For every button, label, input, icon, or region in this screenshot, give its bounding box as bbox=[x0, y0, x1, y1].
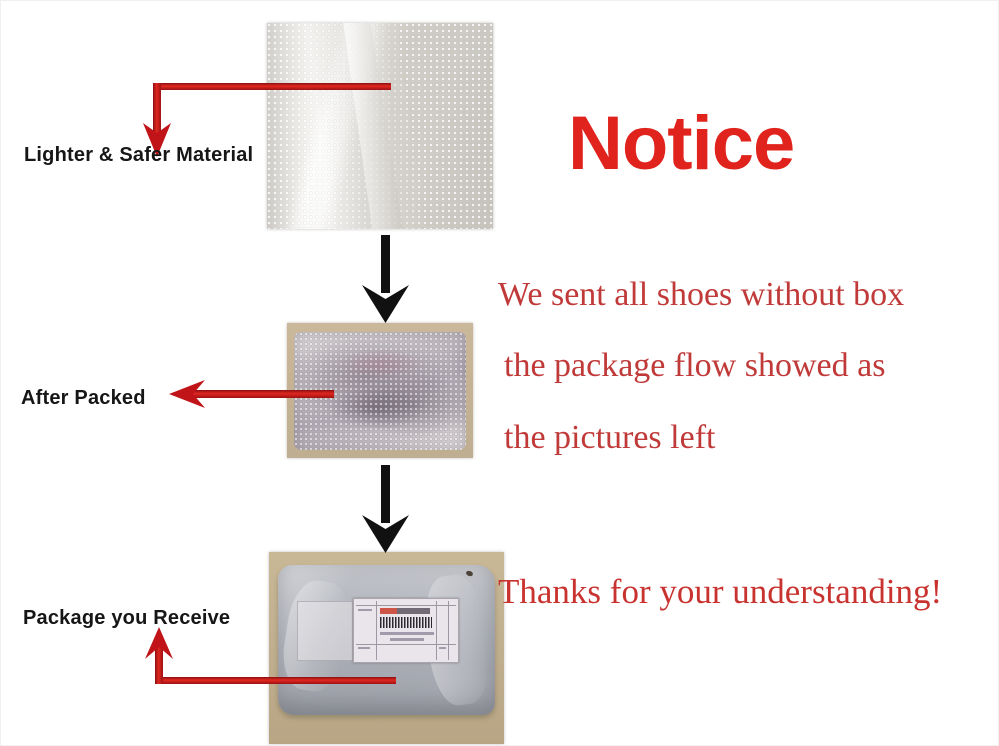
mailer-speck bbox=[465, 570, 473, 577]
notice-line-1: We sent all shoes without box bbox=[498, 278, 904, 312]
notice-title: Notice bbox=[568, 106, 794, 182]
black-arrow-down-icon bbox=[358, 465, 414, 555]
red-arrow-left-icon bbox=[169, 379, 334, 413]
label-divider bbox=[448, 601, 449, 660]
label-divider bbox=[436, 601, 437, 660]
notice-graphic: Lighter & Safer Material After Packed Pa… bbox=[0, 0, 999, 746]
label-divider bbox=[356, 605, 456, 606]
notice-line-2: the package flow showed as bbox=[504, 349, 885, 383]
step-label-material: Lighter & Safer Material bbox=[24, 144, 253, 167]
black-arrow-down-icon bbox=[358, 235, 414, 325]
notice-thanks-line: Thanks for your understanding! bbox=[498, 574, 942, 609]
step-label-package-received: Package you Receive bbox=[23, 607, 230, 630]
label-text-line bbox=[439, 647, 446, 649]
step-label-after-packed: After Packed bbox=[21, 387, 146, 410]
notice-line-3: the pictures left bbox=[504, 421, 715, 455]
label-reference-text bbox=[380, 608, 430, 614]
red-elbow-arrow-up-icon bbox=[131, 625, 396, 695]
label-text-line bbox=[358, 609, 372, 611]
